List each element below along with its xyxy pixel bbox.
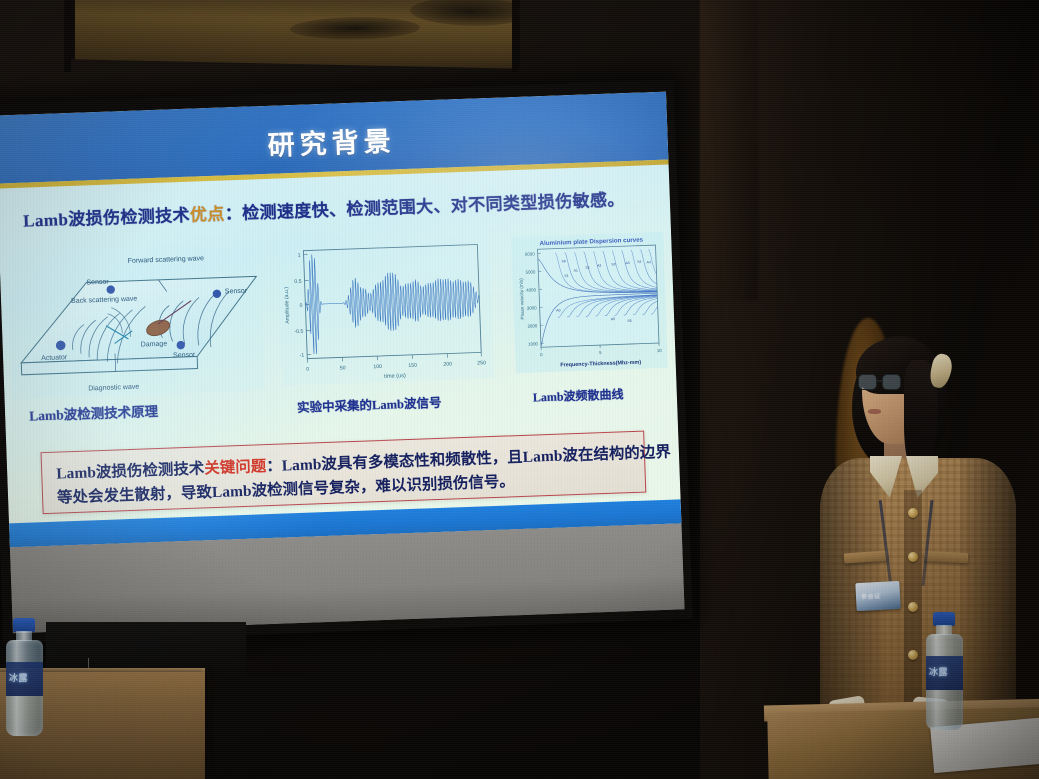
dispersion-chart-svg: Aluminium plate Dispersion curves 6000 5… bbox=[511, 232, 668, 373]
svg-text:A0: A0 bbox=[556, 308, 560, 312]
glasses-lens-right bbox=[882, 374, 901, 390]
caption-dispersion: Lamb波频散曲线 bbox=[533, 385, 624, 405]
svg-text:-0.5: -0.5 bbox=[294, 329, 303, 335]
dispersion-title: Aluminium plate Dispersion curves bbox=[539, 236, 643, 247]
label-sensor-2: Sensor bbox=[225, 288, 248, 296]
caption-signal: 实验中采集的Lamb波信号 bbox=[297, 392, 442, 416]
jacket-button-4 bbox=[908, 650, 918, 660]
bottle-brand-left: 冰露 bbox=[9, 671, 28, 684]
label-forward-scattering: Forward scattering wave bbox=[128, 255, 205, 265]
label-diagnostic-wave: Diagnostic wave bbox=[88, 384, 139, 393]
label-sensor-3: Sensor bbox=[173, 352, 196, 360]
figure-row: Forward scattering wave Sensor Back scat… bbox=[0, 222, 677, 426]
svg-text:0: 0 bbox=[306, 367, 309, 373]
caption-principle: Lamb波检测技术原理 bbox=[29, 400, 159, 425]
svg-text:1: 1 bbox=[298, 253, 301, 259]
wall-painting bbox=[70, 0, 520, 69]
svg-text:S2: S2 bbox=[585, 266, 589, 270]
svg-text:-1: -1 bbox=[299, 353, 304, 359]
dispersion-ylabel: Phase velocity (m/s) bbox=[519, 278, 525, 320]
signal-chart-svg: 1 0.5 0 -0.5 -1 bbox=[277, 236, 494, 385]
svg-text:5: 5 bbox=[599, 350, 602, 355]
figure-captured-signal: 1 0.5 0 -0.5 -1 bbox=[277, 236, 494, 385]
bottle-cap-left bbox=[13, 618, 35, 632]
issue-highlight: 关键问题 bbox=[204, 458, 267, 477]
jacket-shadow-right bbox=[960, 458, 1016, 733]
svg-text:S0: S0 bbox=[562, 259, 566, 263]
svg-text:A3: A3 bbox=[625, 261, 629, 265]
principle-schematic-svg: Forward scattering wave Sensor Back scat… bbox=[7, 242, 264, 399]
collar-left bbox=[870, 456, 902, 498]
bottle-label-right: 冰露 bbox=[926, 656, 963, 690]
jacket-button-3 bbox=[908, 602, 918, 612]
svg-text:1000: 1000 bbox=[528, 341, 538, 346]
svg-text:A4: A4 bbox=[647, 260, 651, 264]
svg-text:A2: A2 bbox=[597, 264, 601, 268]
svg-text:250: 250 bbox=[477, 360, 486, 366]
svg-text:0: 0 bbox=[299, 303, 302, 309]
dispersion-xlabel: Frequency-Thickness(Mhz-mm) bbox=[560, 360, 641, 369]
issue-prefix: Lamb波损伤检测技术 bbox=[56, 460, 205, 482]
jacket-button-1 bbox=[908, 508, 918, 518]
bottle-brand-right: 冰露 bbox=[929, 665, 948, 678]
svg-text:S1: S1 bbox=[564, 274, 568, 278]
name-badge-text: 参会证 bbox=[861, 591, 881, 601]
jacket-button-2 bbox=[908, 552, 918, 562]
label-damage: Damage bbox=[141, 341, 168, 349]
glasses-icon bbox=[858, 374, 904, 391]
signal-ylabel: Amplitude (a.u.) bbox=[284, 287, 291, 324]
label-sensor-1: Sensor bbox=[86, 279, 109, 287]
projection-screen: 研究背景 Lamb波损伤检测技术优点：检测速度快、检测范围大、对不同类型损伤敏感… bbox=[0, 79, 693, 643]
water-bottle-right: 冰露 bbox=[924, 612, 968, 736]
svg-text:S5: S5 bbox=[627, 319, 631, 323]
glasses-lens-left bbox=[858, 374, 877, 390]
subtitle-prefix: Lamb波损伤检测技术 bbox=[23, 206, 190, 231]
presentation-photo: 研究背景 Lamb波损伤检测技术优点：检测速度快、检测范围大、对不同类型损伤敏感… bbox=[0, 0, 1039, 779]
svg-text:10: 10 bbox=[657, 348, 663, 353]
figure-lamb-principle: Forward scattering wave Sensor Back scat… bbox=[7, 242, 264, 399]
svg-text:5000: 5000 bbox=[525, 269, 535, 274]
svg-text:50: 50 bbox=[340, 365, 346, 371]
name-badge: 参会证 bbox=[855, 581, 900, 611]
subtitle-highlight: 优点 bbox=[190, 204, 225, 224]
svg-text:4000: 4000 bbox=[526, 287, 536, 292]
painting-brushstroke bbox=[290, 16, 421, 40]
svg-text:200: 200 bbox=[443, 361, 452, 367]
svg-text:100: 100 bbox=[373, 364, 382, 370]
powerpoint-slide: 研究背景 Lamb波损伤检测技术优点：检测速度快、检测范围大、对不同类型损伤敏感… bbox=[0, 92, 681, 548]
svg-text:0.5: 0.5 bbox=[294, 279, 302, 285]
subtitle-suffix: ：检测速度快、检测范围大、对不同类型损伤敏感。 bbox=[224, 190, 625, 223]
signal-xlabel: time (us) bbox=[384, 373, 406, 380]
figure-dispersion-curves: Aluminium plate Dispersion curves 6000 5… bbox=[511, 232, 668, 373]
bottle-cap-right bbox=[933, 612, 955, 626]
water-bottle-left: 冰露 bbox=[4, 618, 48, 742]
wall-column-upper bbox=[700, 0, 758, 300]
label-actuator: Actuator bbox=[41, 354, 68, 362]
key-issue-box: Lamb波损伤检测技术关键问题：Lamb波具有多模态性和频散性，且Lamb波在结… bbox=[40, 431, 646, 515]
svg-text:S3: S3 bbox=[611, 262, 615, 266]
bottle-label-left: 冰露 bbox=[6, 662, 43, 696]
painting-frame-post-right bbox=[512, 0, 519, 72]
svg-text:6000: 6000 bbox=[525, 251, 535, 256]
mouth bbox=[868, 409, 881, 414]
svg-text:2000: 2000 bbox=[527, 323, 537, 328]
svg-text:3000: 3000 bbox=[527, 305, 537, 310]
svg-text:150: 150 bbox=[408, 363, 417, 369]
svg-text:0: 0 bbox=[540, 352, 543, 357]
screen-surface: 研究背景 Lamb波损伤检测技术优点：检测速度快、检测范围大、对不同类型损伤敏感… bbox=[0, 92, 685, 634]
svg-text:S4: S4 bbox=[637, 260, 641, 264]
svg-text:A5: A5 bbox=[611, 317, 615, 321]
painting-frame-post-left bbox=[64, 0, 71, 72]
svg-text:A1: A1 bbox=[574, 269, 578, 273]
